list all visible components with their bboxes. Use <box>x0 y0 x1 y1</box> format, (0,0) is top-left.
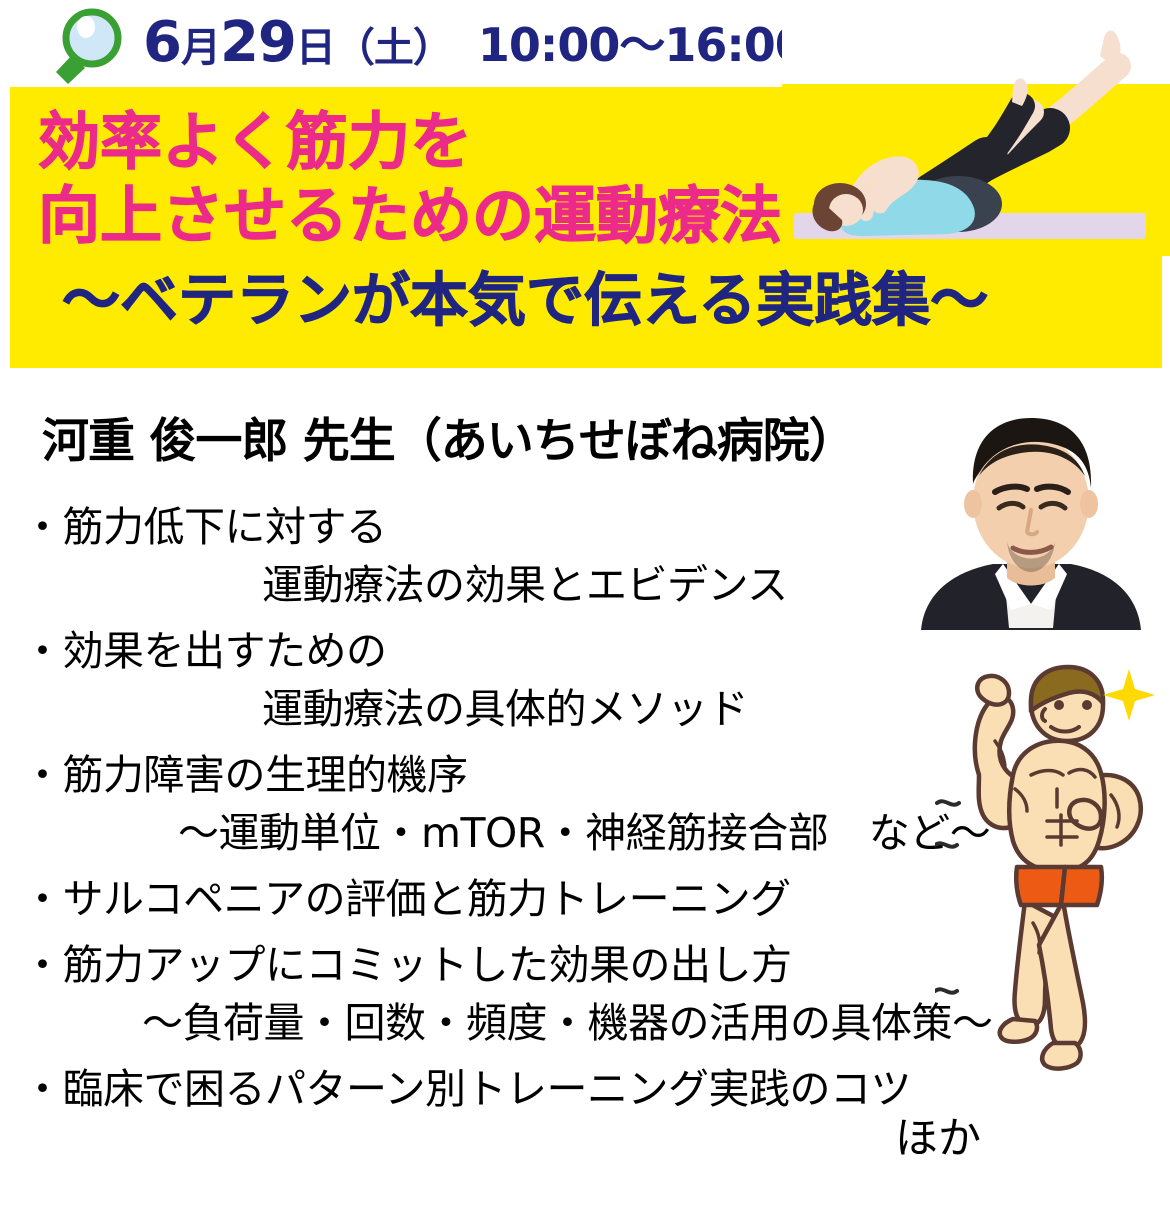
speaker-name: 河重 俊一郎 先生（あいちせぼね病院） <box>42 402 855 471</box>
list-item: ・臨床で困るパターン別トレーニング実践のコツ <box>0 1060 1000 1118</box>
list-item: ・効果を出すための 運動療法の具体的メソッド <box>0 622 1000 738</box>
topic-line: ・臨床で困るパターン別トレーニング実践のコツ <box>0 1060 1000 1118</box>
topic-line: 運動療法の具体的メソッド <box>0 680 1000 738</box>
event-date-time: 6月29日（土）10:00〜16:00 <box>143 4 806 87</box>
date-day: 29 <box>220 10 296 75</box>
etc-label: ほか <box>895 1104 981 1166</box>
topic-line: 運動療法の効果とエビデンス <box>0 556 1000 614</box>
magnifier-icon <box>48 8 124 86</box>
topic-line: ・筋力アップにコミットした効果の出し方 <box>0 936 1000 994</box>
list-item: ・筋力障害の生理的機序 〜運動単位・mTOR・神経筋接合部 など〜 <box>0 746 1000 862</box>
topic-line: ・筋力低下に対する <box>0 498 1000 556</box>
date-weekday: （土） <box>335 25 452 71</box>
list-item: ・筋力低下に対する 運動療法の効果とエビデンス <box>0 498 1000 614</box>
topic-line: ・効果を出すための <box>0 622 1000 680</box>
flyer-page: 6月29日（土）10:00〜16:00 効率よく筋力を 向上させるための運動療法… <box>0 0 1170 1213</box>
exercise-photo <box>782 8 1170 256</box>
seminar-subtitle: 〜ベテランが本気で伝える実践集〜 <box>62 265 988 335</box>
date-month: 6 <box>143 10 181 75</box>
topic-line: ・筋力障害の生理的機序 <box>0 746 1000 804</box>
topic-line: 〜運動単位・mTOR・神経筋接合部 など〜 <box>0 804 1000 862</box>
topic-line: ・サルコペニアの評価と筋力トレーニング <box>0 870 1000 928</box>
event-time-range: 10:00〜16:00 <box>478 18 806 72</box>
list-item: ・筋力アップにコミットした効果の出し方 〜負荷量・回数・頻度・機器の活用の具体策… <box>0 936 1000 1052</box>
bodybuilder-illustration <box>935 655 1170 1085</box>
sparkle-icon <box>1103 669 1155 721</box>
topic-line: 〜負荷量・回数・頻度・機器の活用の具体策〜 <box>0 994 1000 1052</box>
date-day-unit: 日 <box>296 25 335 71</box>
date-month-unit: 月 <box>181 25 220 71</box>
topic-list: ・筋力低下に対する 運動療法の効果とエビデンス ・効果を出すための 運動療法の具… <box>0 498 1000 1118</box>
list-item: ・サルコペニアの評価と筋力トレーニング <box>0 870 1000 928</box>
seminar-title: 効率よく筋力を 向上させるための運動療法 <box>38 105 782 253</box>
